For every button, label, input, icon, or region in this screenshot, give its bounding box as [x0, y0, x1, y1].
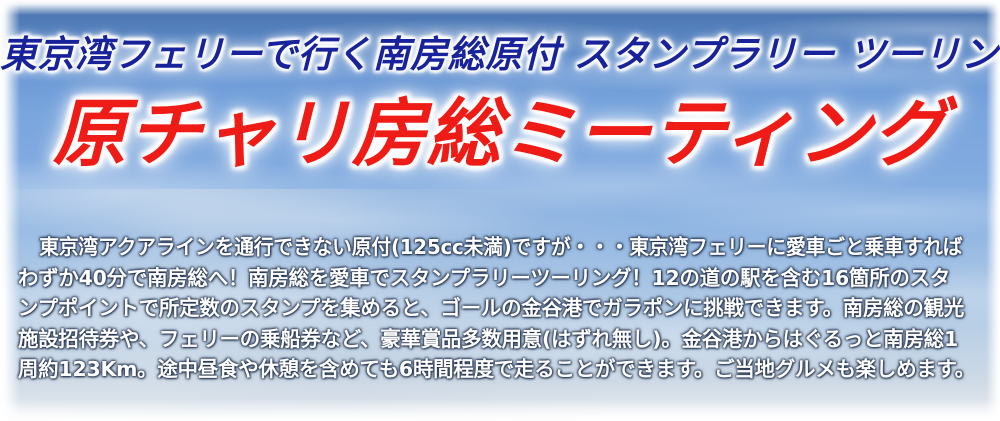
body-line-1: 東京湾アクアラインを通行できない原付(125cc未満)ですが・・・東京湾フェリー… — [18, 232, 962, 263]
banner-body-copy: 東京湾アクアラインを通行できない原付(125cc未満)ですが・・・東京湾フェリー… — [18, 232, 988, 385]
banner-content: 東京湾フェリーで行く南房総原付 スタンプラリー ツーリング 原チャリ房総ミーティ… — [0, 0, 1000, 421]
body-line-3: ンプポイントで所定数のスタンプを集めると、ゴールの金谷港でガラポンに挑戦できます… — [18, 293, 964, 324]
event-banner: 東京湾フェリーで行く南房総原付 スタンプラリー ツーリング 原チャリ房総ミーティ… — [0, 0, 1000, 421]
banner-main-title: 原チャリ房総ミーティング — [0, 96, 1000, 174]
body-line-5: 周約123Km。途中昼食や休憩を含めても6時間程度で走ることができます。ご当地グ… — [18, 354, 975, 385]
banner-subtitle: 東京湾フェリーで行く南房総原付 スタンプラリー ツーリング — [0, 36, 1000, 73]
body-line-2: わずか40分で南房総へ！南房総を愛車でスタンプラリーツーリング！12の道の駅を含… — [18, 263, 950, 294]
body-line-4: 施設招待券や、フェリーの乗船券など、豪華賞品多数用意(はずれ無し)。金谷港からは… — [18, 324, 958, 355]
